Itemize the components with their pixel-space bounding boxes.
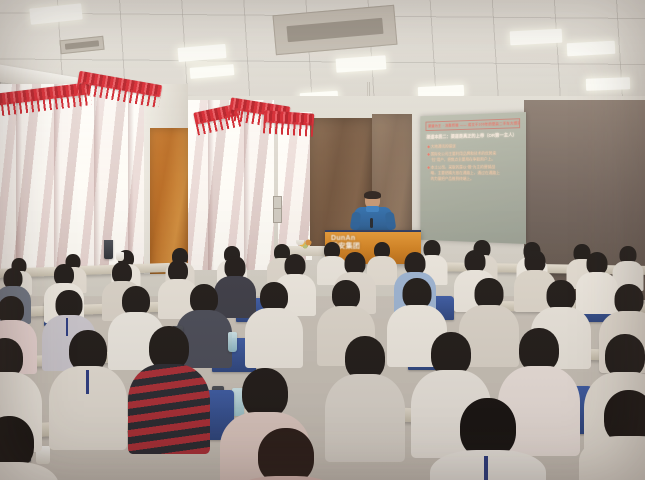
bullet-text: 国际化公司主要利用品牌和技术的优势来 [431, 150, 496, 156]
audience-person-foreground [240, 428, 332, 485]
audience-person [250, 282, 298, 364]
slide-bullet-list: ◆大地通讯的错误 ◆国际化公司主要利用品牌和技术的优势来 "拉"用户，把焦点主要… [425, 142, 521, 182]
speaker-collar [366, 206, 379, 212]
light-switch[interactable] [273, 208, 282, 223]
bullet-subtext: 的力量把产品推到终端上。 [431, 176, 521, 182]
image-bottom-border [0, 480, 645, 485]
bullet-text: 本土公司，采取的是以"推"为主的营销战 [431, 164, 495, 169]
bullet-marker-icon: ◆ [427, 164, 430, 169]
bullet-subtext: "拉"用户，把焦点主要用在争取用户上。 [431, 156, 521, 163]
audience-person [56, 330, 120, 445]
speaker-hair [364, 191, 381, 199]
audience-area [0, 240, 645, 485]
slide-bullet-item: ◆大地通讯的错误 [427, 142, 521, 150]
audience-person-foreground [440, 398, 536, 485]
photo-scene: 渠道为王 · 决胜终端 —— 成文于100年的是赢二手车大博览 渠道本质二：渠道… [0, 0, 645, 485]
slide-title: 渠道本质二：渠道是真正的上帝（OR第一主人） [426, 131, 521, 140]
slide-bullet-item: ◆国际化公司主要利用品牌和技术的优势来 "拉"用户，把焦点主要用在争取用户上。 [427, 150, 521, 163]
water-bottle [228, 332, 237, 352]
slide-bullet-item: ◆本土公司，采取的是以"推"为主的营销战 略，主要把精力放在通路上，通过在通路上… [427, 164, 521, 183]
ceiling-light [567, 41, 616, 56]
red-garland [264, 110, 315, 125]
ceiling-light [510, 29, 563, 46]
paper-cup [116, 252, 124, 261]
bullet-marker-icon: ◆ [427, 151, 430, 156]
podium-top-edge [325, 230, 421, 232]
slide-header-banner: 渠道为王 · 决胜终端 —— 成文于100年的是赢二手车大博览 [426, 118, 521, 131]
audience-person-foreground [586, 390, 645, 485]
bullet-text: 大地通讯的错误 [431, 144, 456, 149]
paper-cup [296, 240, 304, 245]
audience-person-foreground [0, 416, 52, 485]
bullet-marker-icon: ◆ [427, 144, 430, 149]
audience-person [332, 336, 398, 454]
projection-screen: 渠道为王 · 决胜终端 —— 成文于100年的是赢二手车大博览 渠道本质二：渠道… [420, 112, 526, 244]
ceiling-light [586, 77, 630, 91]
audience-person-striped [136, 326, 202, 446]
thermos-flask [104, 240, 113, 259]
microphone-icon [370, 218, 373, 228]
